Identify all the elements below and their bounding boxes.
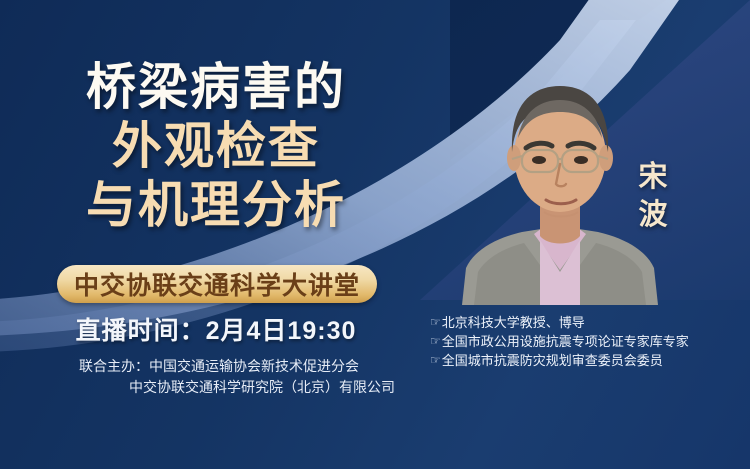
organizers: 联合主办：中国交通运输协会新技术促进分会 中交协联交通科学研究院（北京）有限公司 xyxy=(0,356,438,398)
poster-title: 桥梁病害的 外观检查 与机理分析 xyxy=(0,58,432,235)
series-badge: 中交协联交通科学大讲堂 xyxy=(57,265,377,303)
live-time: 直播时间：2月4日19:30 xyxy=(0,311,432,347)
series-badge-label: 中交协联交通科学大讲堂 xyxy=(74,266,360,302)
title-line-1: 桥梁病害的 xyxy=(0,58,432,117)
pointing-hand-icon: ☞ xyxy=(430,313,441,332)
credential-item: ☞ 全国市政公用设施抗震专项论证专家库专家 xyxy=(430,332,748,351)
pointing-hand-icon: ☞ xyxy=(430,351,441,370)
credential-text: 全国城市抗震防灾规划审查委员会委员 xyxy=(442,351,663,370)
organizer-line-2: 中交协联交通科学研究院（北京）有限公司 xyxy=(0,377,438,398)
credential-text: 全国市政公用设施抗震专项论证专家库专家 xyxy=(442,332,689,351)
speaker-name-char-1: 宋 xyxy=(633,158,673,196)
title-line-3: 与机理分析 xyxy=(0,176,432,235)
title-line-2: 外观检查 xyxy=(0,117,432,176)
credential-item: ☞ 北京科技大学教授、博导 xyxy=(430,313,748,332)
speaker-credentials: ☞ 北京科技大学教授、博导 ☞ 全国市政公用设施抗震专项论证专家库专家 ☞ 全国… xyxy=(430,313,748,370)
speaker-name-char-2: 波 xyxy=(633,196,673,234)
credential-text: 北京科技大学教授、博导 xyxy=(442,313,585,332)
speaker-name: 宋 波 xyxy=(633,158,673,234)
organizer-line-1: 联合主办：中国交通运输协会新技术促进分会 xyxy=(0,356,438,377)
pointing-hand-icon: ☞ xyxy=(430,332,441,351)
webinar-poster: 桥梁病害的 外观检查 与机理分析 中交协联交通科学大讲堂 直播时间：2月4日19… xyxy=(0,0,750,469)
credential-item: ☞ 全国城市抗震防灾规划审查委员会委员 xyxy=(430,351,748,370)
